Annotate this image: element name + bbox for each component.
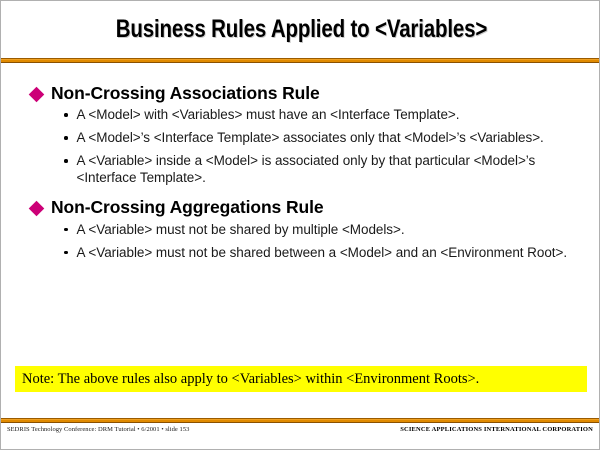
list-item: A <Variable> must not be shared by multi…	[1, 221, 600, 238]
diamond-bullet-icon	[29, 87, 45, 103]
list-item-label: A <Variable> must not be shared by multi…	[77, 221, 405, 238]
slide-footer: SEDRIS Technology Conference: DRM Tutori…	[1, 426, 600, 448]
note-callout: Note: The above rules also apply to <Var…	[15, 366, 587, 392]
note-text: Note: The above rules also apply to <Var…	[15, 371, 479, 388]
list-item-label: A <Variable> must not be shared between …	[77, 244, 568, 261]
dot-bullet-icon	[64, 251, 68, 255]
title-divider-rule	[1, 58, 600, 64]
list-item: A <Model>’s <Interface Template> associa…	[1, 129, 600, 146]
section-heading-label: Non-Crossing Associations Rule	[51, 83, 320, 104]
slide-body: Non-Crossing Associations Rule A <Model>…	[1, 83, 600, 267]
list-item: A <Model> with <Variables> must have an …	[1, 106, 600, 123]
list-item: A <Variable> must not be shared between …	[1, 244, 600, 261]
dot-bullet-icon	[64, 228, 68, 232]
footer-conference-info: SEDRIS Technology Conference: DRM Tutori…	[1, 426, 189, 433]
list-item-label: A <Model>’s <Interface Template> associa…	[77, 129, 544, 146]
page-title: Business Rules Applied to <Variables>	[115, 17, 486, 42]
dot-bullet-icon	[64, 136, 68, 140]
section-heading-non-crossing-aggregations-rule: Non-Crossing Aggregations Rule	[1, 197, 600, 218]
section-heading-label: Non-Crossing Aggregations Rule	[51, 197, 323, 218]
slide-title-area: Business Rules Applied to <Variables>	[1, 1, 600, 58]
slide-canvas: Business Rules Applied to <Variables> No…	[0, 0, 600, 450]
footer-divider-rule	[1, 418, 600, 424]
dot-bullet-icon	[64, 159, 68, 163]
list-item-label: A <Model> with <Variables> must have an …	[77, 106, 460, 123]
section-heading-non-crossing-associations-rule: Non-Crossing Associations Rule	[1, 83, 600, 104]
dot-bullet-icon	[64, 113, 68, 117]
list-item-label: A <Variable> inside a <Model> is associa…	[77, 152, 588, 186]
footer-company-name: SCIENCE APPLICATIONS INTERNATIONAL CORPO…	[400, 426, 600, 433]
diamond-bullet-icon	[29, 201, 45, 217]
list-item: A <Variable> inside a <Model> is associa…	[1, 152, 600, 186]
